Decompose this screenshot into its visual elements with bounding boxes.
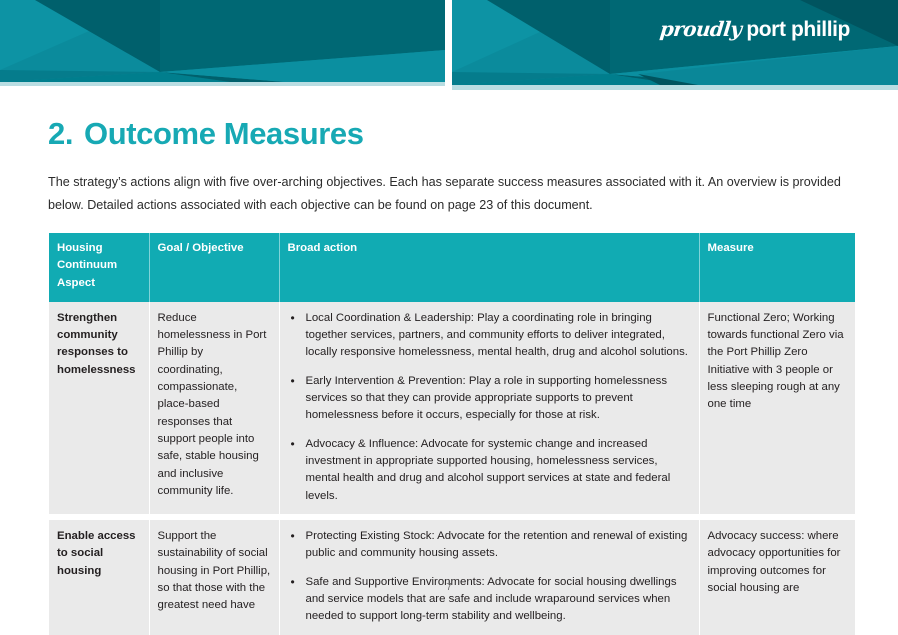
- column-header-housing-continuum-aspect: Housing Continuum Aspect: [49, 233, 149, 302]
- cell-measure: Functional Zero; Working towards functio…: [699, 302, 855, 514]
- banner-geometric-pattern: [0, 0, 898, 90]
- broad-action-list: Local Coordination & Leadership: Play a …: [288, 310, 691, 505]
- page-title-text: Outcome Measures: [84, 116, 364, 152]
- cell-goal: Reduce homelessness in Port Phillip by c…: [149, 302, 279, 514]
- list-item: Local Coordination & Leadership: Play a …: [306, 310, 691, 362]
- broad-action-list: Protecting Existing Stock: Advocate for …: [288, 528, 691, 626]
- page-content: 2. Outcome Measures The strategy’s actio…: [0, 90, 898, 635]
- logo-script-text: proudly: [659, 17, 743, 41]
- column-header-goal-objective: Goal / Objective: [149, 233, 279, 302]
- cell-goal: Support the sustainability of social hou…: [149, 520, 279, 635]
- page-number: 7: [0, 582, 898, 593]
- cell-aspect: Strengthen community responses to homele…: [49, 302, 149, 514]
- cell-broad-action: Local Coordination & Leadership: Play a …: [279, 302, 699, 514]
- port-phillip-logo: proudly port phillip: [660, 17, 850, 42]
- table-row: Strengthen community responses to homele…: [49, 302, 855, 514]
- cell-measure: Advocacy success: where advocacy opportu…: [699, 520, 855, 635]
- intro-paragraph: The strategy’s actions align with five o…: [48, 171, 850, 218]
- table-header-row: Housing Continuum Aspect Goal / Objectiv…: [49, 233, 855, 302]
- table-row: Enable access to social housing Support …: [49, 520, 855, 635]
- page-title-number: 2.: [48, 116, 84, 152]
- cell-broad-action: Protecting Existing Stock: Advocate for …: [279, 520, 699, 635]
- page-title: 2. Outcome Measures: [48, 116, 898, 152]
- logo-bold-text: port phillip: [746, 18, 850, 42]
- column-header-broad-action: Broad action: [279, 233, 699, 302]
- cell-aspect: Enable access to social housing: [49, 520, 149, 635]
- banner-left-underline: [0, 82, 445, 86]
- list-item: Early Intervention & Prevention: Play a …: [306, 373, 691, 425]
- outcome-measures-table: Housing Continuum Aspect Goal / Objectiv…: [49, 233, 855, 635]
- page-header-banner: proudly port phillip: [0, 0, 898, 90]
- list-item: Protecting Existing Stock: Advocate for …: [306, 528, 691, 563]
- list-item: Advocacy & Influence: Advocate for syste…: [306, 436, 691, 505]
- table-header: Housing Continuum Aspect Goal / Objectiv…: [49, 233, 855, 302]
- column-header-measure: Measure: [699, 233, 855, 302]
